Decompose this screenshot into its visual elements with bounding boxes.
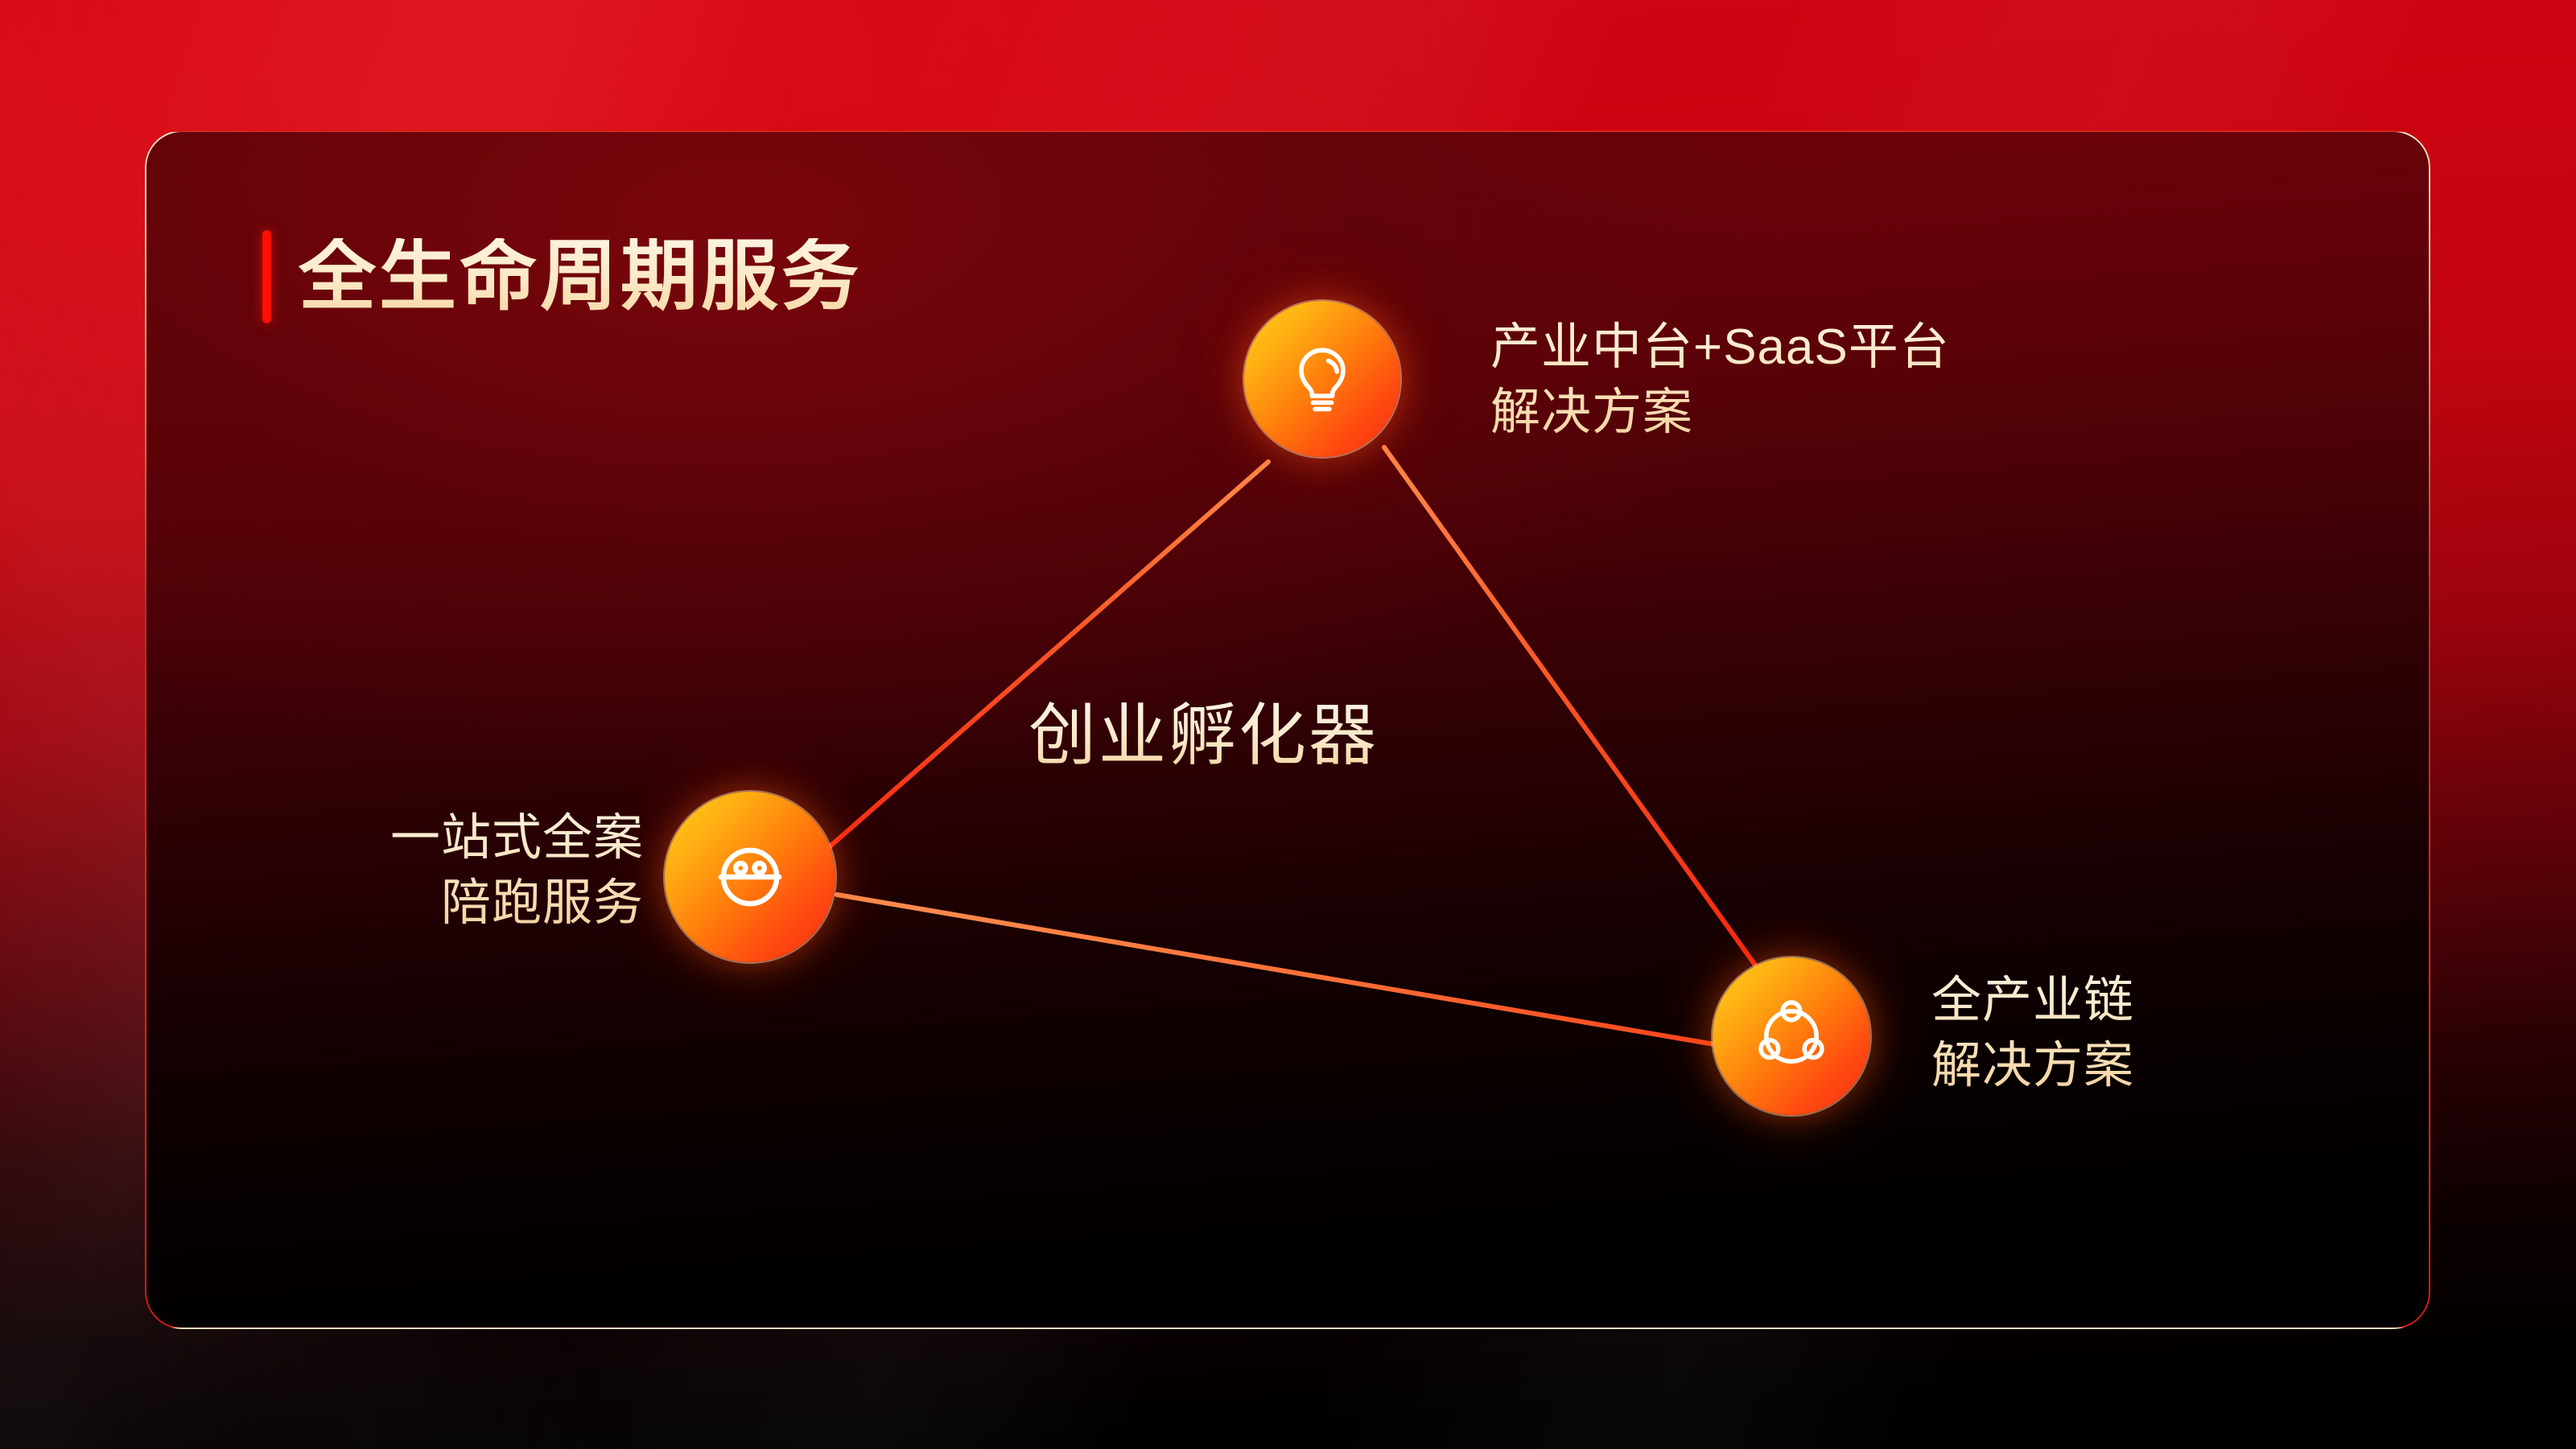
page-title: 全生命周期服务: [262, 230, 862, 323]
label-full-chain-line2: 解决方案: [1931, 1034, 2134, 1099]
label-full-chain-line1: 全产业链: [1931, 969, 2134, 1034]
label-one-stop-service-line2: 陪跑服务: [286, 871, 644, 936]
label-one-stop-service-line1: 一站式全案: [286, 806, 644, 871]
title-accent-bar: [262, 230, 271, 323]
share-network-icon: [1750, 994, 1833, 1078]
title-text: 全生命周期服务: [299, 238, 862, 315]
label-saas-platform: 产业中台+SaaS平台 解决方案: [1490, 315, 1950, 445]
lightbulb-icon: [1280, 337, 1364, 421]
robot-face-icon: [705, 832, 795, 922]
center-label: 创业孵化器: [1028, 702, 1379, 769]
node-one-stop-service[interactable]: [665, 792, 835, 962]
label-saas-platform-line1: 产业中台+SaaS平台: [1490, 315, 1950, 381]
label-one-stop-service: 一站式全案 陪跑服务: [286, 806, 644, 936]
node-saas-platform[interactable]: [1244, 301, 1400, 457]
slide-canvas: 全生命周期服务 创业孵化器: [0, 0, 2576, 1449]
label-saas-platform-line2: 解决方案: [1490, 381, 1950, 446]
label-full-chain: 全产业链 解决方案: [1931, 969, 2134, 1098]
node-full-chain[interactable]: [1713, 957, 1870, 1115]
